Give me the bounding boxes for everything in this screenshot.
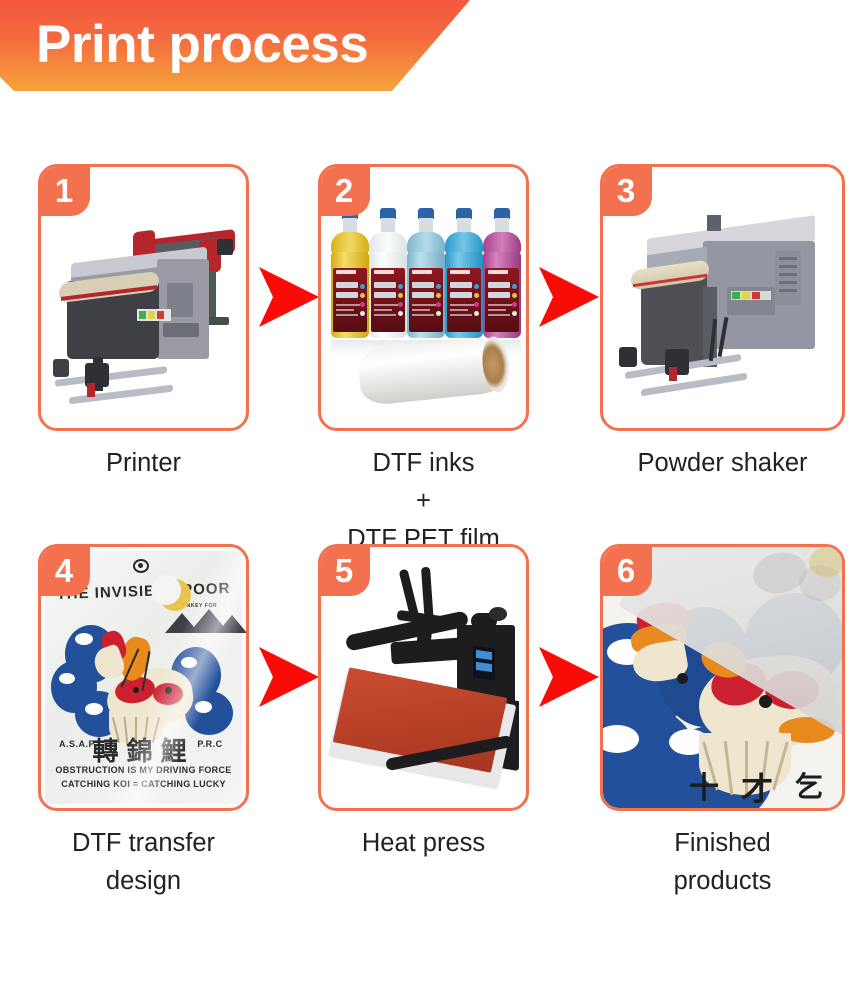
step-card-3[interactable]: 3 Powder shaker (600, 164, 845, 431)
step-2-caption: DTF inks + DTF PET film (288, 444, 559, 558)
step-4-badge: 4 (38, 544, 90, 596)
arrow-step-5-to-6 (537, 643, 599, 711)
step-card-1[interactable]: 1 Printer (38, 164, 249, 431)
step-3-badge: 3 (600, 164, 652, 216)
arrow-step-2-to-3 (537, 263, 599, 331)
ink-bottle-cyan (445, 208, 483, 340)
step-3-frame: 3 (600, 164, 845, 431)
step-2-frame: 2 (318, 164, 529, 431)
ink-bottle-light-cyan (407, 208, 445, 340)
step-3-caption: Powder shaker (570, 444, 850, 482)
step-6-caption: Finished products (570, 824, 850, 900)
arrow-step-4-to-5 (257, 643, 319, 711)
step-1-frame: 1 (38, 164, 249, 431)
step-4-caption: DTF transfer design (8, 824, 279, 900)
step-1-badge: 1 (38, 164, 90, 216)
step-card-2[interactable]: 2 DTF inks + DTF PET film (318, 164, 529, 431)
step-card-5[interactable]: 5 Heat press (318, 544, 529, 811)
step-card-4[interactable]: THE INVISIBLE POOR FUNKEY FOR (38, 544, 249, 811)
step-5-caption: Heat press (288, 824, 559, 862)
ink-bottle-magenta (483, 208, 521, 340)
step-2-badge: 2 (318, 164, 370, 216)
step-5-frame: 5 (318, 544, 529, 811)
step-6-badge: 6 (600, 544, 652, 596)
step-5-badge: 5 (318, 544, 370, 596)
ink-bottle-white (369, 208, 407, 340)
step-4-frame: THE INVISIBLE POOR FUNKEY FOR (38, 544, 249, 811)
arrow-step-1-to-2 (257, 263, 319, 331)
step-card-6[interactable]: 十 才 乞 6 Finished products (600, 544, 845, 811)
ink-bottle-yellow (331, 208, 369, 340)
step-6-frame: 十 才 乞 6 (600, 544, 845, 811)
step-1-caption: Printer (8, 444, 279, 482)
process-steps-grid: 1 Printer (0, 0, 850, 984)
